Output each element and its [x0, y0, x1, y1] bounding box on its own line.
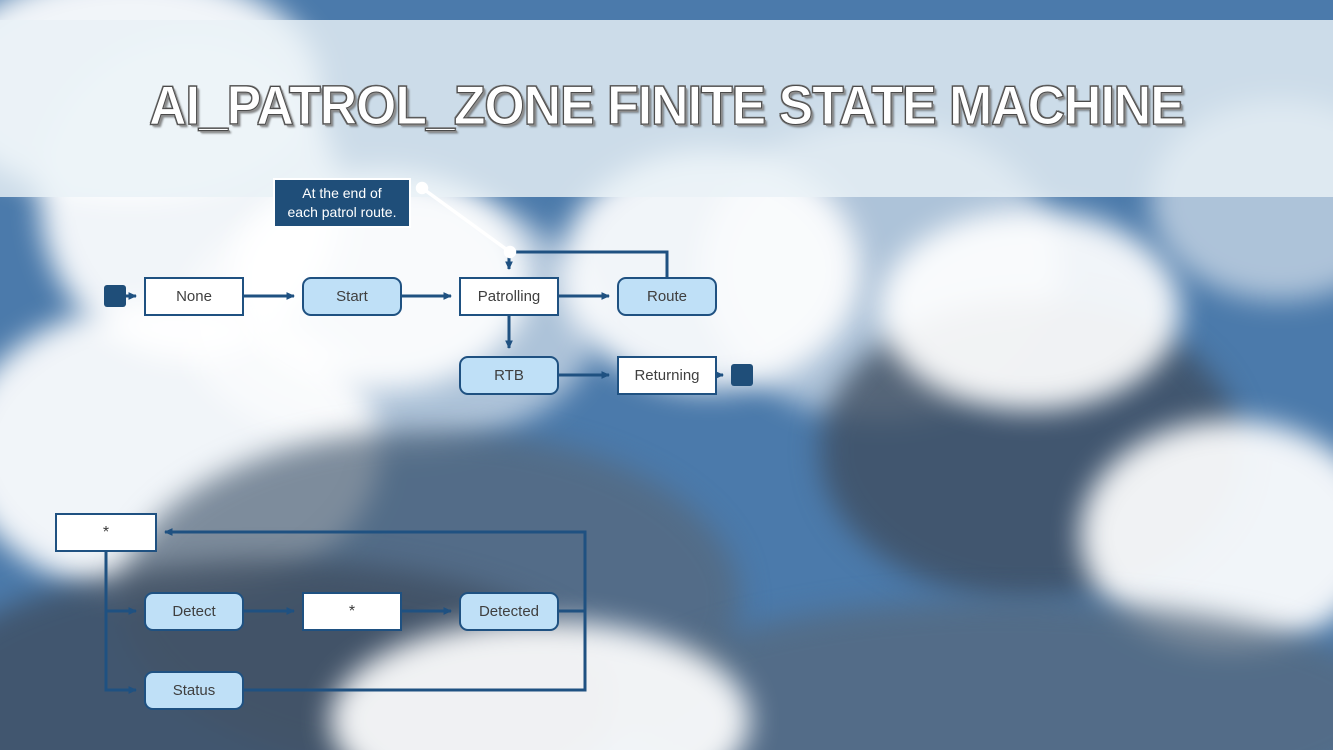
state-node-any-mid[interactable]: *	[302, 592, 402, 631]
state-label: Detect	[172, 603, 215, 620]
callout-line-2: each patrol route.	[288, 203, 397, 222]
state-label: None	[176, 288, 212, 305]
state-label: *	[349, 603, 355, 621]
state-node-start[interactable]: Start	[302, 277, 402, 316]
state-label: RTB	[494, 367, 524, 384]
edge-star-to-status	[106, 611, 136, 690]
state-node-rtb[interactable]: RTB	[459, 356, 559, 395]
state-node-returning[interactable]: Returning	[617, 356, 717, 395]
end-terminal	[731, 364, 753, 386]
slide-canvas: AI_PATROL_ZONE FINITE STATE MACHINE	[0, 0, 1333, 750]
state-label: Route	[647, 288, 687, 305]
state-node-any-top[interactable]: *	[55, 513, 157, 552]
state-node-patrolling[interactable]: Patrolling	[459, 277, 559, 316]
start-terminal	[104, 285, 126, 307]
state-label: Patrolling	[478, 288, 541, 305]
state-node-status[interactable]: Status	[144, 671, 244, 710]
edge-route-to-patrolling	[509, 252, 667, 277]
state-label: Detected	[479, 603, 539, 620]
state-label: Start	[336, 288, 368, 305]
state-label: *	[103, 524, 109, 542]
state-node-route[interactable]: Route	[617, 277, 717, 316]
callout-note[interactable]: At the end of each patrol route.	[273, 178, 411, 228]
state-label: Status	[173, 682, 216, 699]
callout-leader-line	[418, 184, 515, 257]
state-label: Returning	[634, 367, 699, 384]
edge-star-to-detect	[106, 552, 136, 611]
state-node-detect[interactable]: Detect	[144, 592, 244, 631]
state-node-none[interactable]: None	[144, 277, 244, 316]
callout-line-1: At the end of	[302, 184, 381, 203]
state-node-detected[interactable]: Detected	[459, 592, 559, 631]
